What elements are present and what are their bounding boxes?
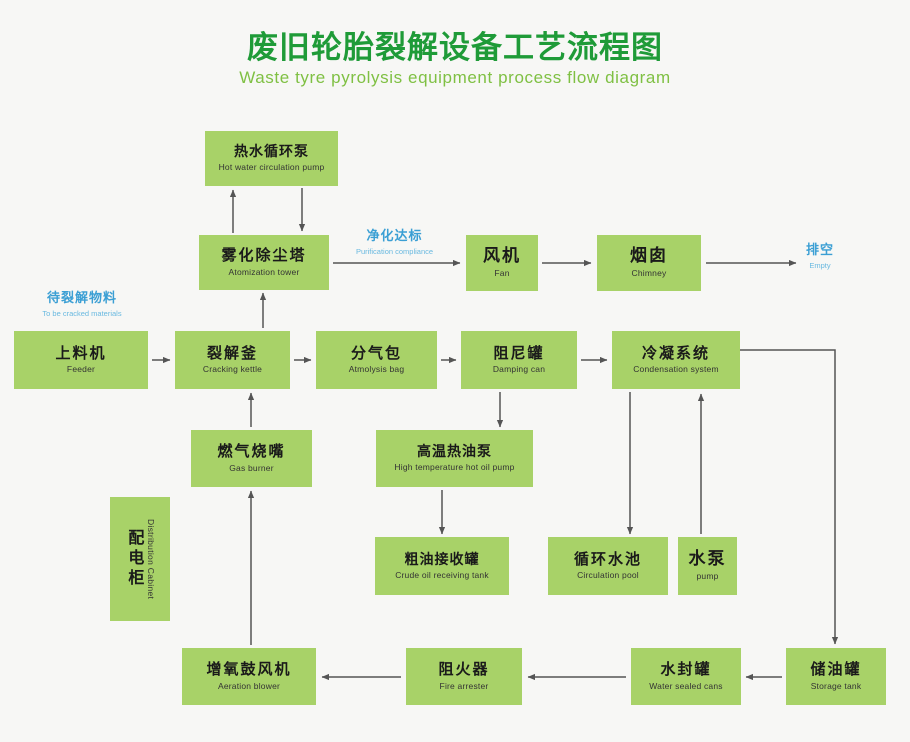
node-label-zh: 上料机 <box>55 345 106 362</box>
annotation-to-be-cracked-materials: 待裂解物料To be cracked materials <box>22 291 142 318</box>
node-storage-tank[interactable]: 储油罐Storage tank <box>786 648 886 705</box>
node-feeder[interactable]: 上料机Feeder <box>14 331 148 389</box>
node-label-zh: 冷凝系统 <box>642 345 710 362</box>
page-title-en: Waste tyre pyrolysis equipment process f… <box>0 68 910 88</box>
node-label-en: Chimney <box>632 269 667 279</box>
node-label-en: Gas burner <box>229 464 274 474</box>
node-cracking-kettle[interactable]: 裂解釜Cracking kettle <box>175 331 290 389</box>
annotation-label-zh: 排空 <box>790 243 850 259</box>
annotation-label-en: To be cracked materials <box>22 309 142 318</box>
node-label-zh: 水封罐 <box>660 661 711 678</box>
node-label-zh: 增氧鼓风机 <box>206 661 291 678</box>
node-label-en: Water sealed cans <box>649 682 722 692</box>
node-crude-oil-receiving-tank[interactable]: 粗油接收罐Crude oil receiving tank <box>375 537 509 595</box>
annotation-empty-vent: 排空Empty <box>790 243 850 270</box>
node-gas-burner[interactable]: 燃气烧嘴Gas burner <box>191 430 312 487</box>
annotation-purification-compliance: 净化达标Purification compliance <box>337 229 452 256</box>
node-label-zh: 雾化除尘塔 <box>221 247 306 264</box>
node-label-zh: 阻火器 <box>438 661 489 678</box>
node-label-en: Storage tank <box>811 682 862 692</box>
node-label-en: Fan <box>494 269 509 279</box>
node-label-zh: 配电柜 <box>125 529 143 589</box>
node-chimney[interactable]: 烟囱Chimney <box>597 235 701 291</box>
node-label-zh: 风机 <box>483 247 521 267</box>
node-water-pump[interactable]: 水泵pump <box>678 537 737 595</box>
node-fire-arrester[interactable]: 阻火器Fire arrester <box>406 648 522 705</box>
node-atmolysis-bag[interactable]: 分气包Atmolysis bag <box>316 331 437 389</box>
node-label-en: Atomization tower <box>229 268 300 278</box>
node-label-en: Fire arrester <box>440 682 489 692</box>
node-condensation-system[interactable]: 冷凝系统Condensation system <box>612 331 740 389</box>
node-label-en: Atmolysis bag <box>349 365 405 375</box>
node-label-en: Cracking kettle <box>203 365 262 375</box>
node-label-en: Distribution Cabinet <box>145 519 155 599</box>
node-high-temperature-hot-oil-pump[interactable]: 高温热油泵High temperature hot oil pump <box>376 430 533 487</box>
node-fan[interactable]: 风机Fan <box>466 235 538 291</box>
node-label-en: Circulation pool <box>577 571 639 581</box>
flow-diagram-canvas: 废旧轮胎裂解设备工艺流程图 Waste tyre pyrolysis equip… <box>0 0 910 742</box>
node-water-sealed-cans[interactable]: 水封罐Water sealed cans <box>631 648 741 705</box>
node-label-zh: 燃气烧嘴 <box>217 443 285 460</box>
node-aeration-blower[interactable]: 增氧鼓风机Aeration blower <box>182 648 316 705</box>
node-label-en: pump <box>696 572 718 582</box>
node-label-en: Aeration blower <box>218 682 280 692</box>
node-label-en: Hot water circulation pump <box>219 163 325 173</box>
node-label-zh: 储油罐 <box>810 661 861 678</box>
page-title-zh: 废旧轮胎裂解设备工艺流程图 <box>0 22 910 67</box>
node-atomization-tower[interactable]: 雾化除尘塔Atomization tower <box>199 235 329 290</box>
node-label-en: Feeder <box>67 365 95 375</box>
node-label-zh: 热水循环泵 <box>234 144 309 160</box>
node-label-en: Damping can <box>493 365 545 375</box>
annotation-label-en: Empty <box>790 261 850 270</box>
annotation-label-en: Purification compliance <box>337 247 452 256</box>
annotation-label-zh: 净化达标 <box>337 229 452 245</box>
node-label-en: High temperature hot oil pump <box>394 463 514 473</box>
node-label-zh: 粗油接收罐 <box>405 552 480 568</box>
node-circulation-pool[interactable]: 循环水池Circulation pool <box>548 537 668 595</box>
node-label-zh: 分气包 <box>351 345 402 362</box>
node-distribution-cabinet[interactable]: 配电柜Distribution Cabinet <box>110 497 170 621</box>
node-label-zh: 裂解釜 <box>207 345 258 362</box>
node-label-zh: 烟囱 <box>630 247 668 267</box>
node-label-zh: 水泵 <box>689 550 727 570</box>
annotation-label-zh: 待裂解物料 <box>22 291 142 307</box>
node-hot-water-circulation-pump[interactable]: 热水循环泵Hot water circulation pump <box>205 131 338 186</box>
node-label-zh: 阻尼罐 <box>493 345 544 362</box>
node-label-zh: 高温热油泵 <box>417 444 492 460</box>
wire-condensation-to-storagetank <box>740 350 835 644</box>
node-label-zh: 循环水池 <box>574 551 642 568</box>
node-label-en: Crude oil receiving tank <box>395 571 489 581</box>
node-damping-can[interactable]: 阻尼罐Damping can <box>461 331 577 389</box>
node-label-en: Condensation system <box>633 365 719 375</box>
